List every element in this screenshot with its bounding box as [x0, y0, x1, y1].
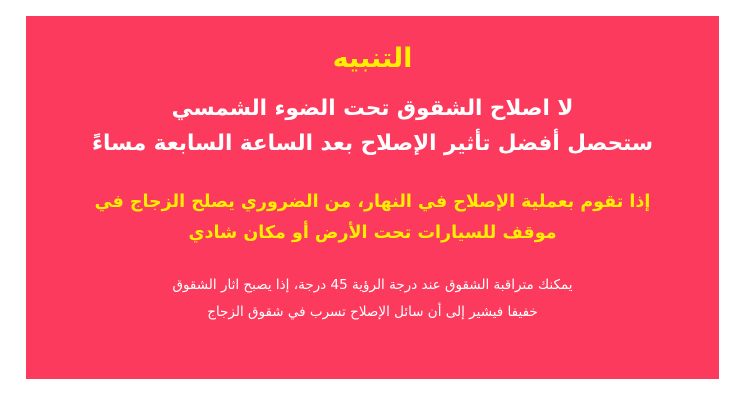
notice-title: التنبيه: [333, 44, 413, 74]
secondary-instruction-block: إذا تقوم بعملية الإصلاح في النهار، من ال…: [26, 187, 719, 249]
tertiary-detail-line-1: يمكنك متراقبة الشقوق عند درجة الرؤية 45 …: [26, 272, 719, 299]
primary-warning-line-1: لا اصلاح الشقوق تحت الضوء الشمسي: [26, 92, 719, 127]
page-canvas: التنبيه لا اصلاح الشقوق تحت الضوء الشمسي…: [0, 0, 750, 403]
tertiary-detail-block: يمكنك متراقبة الشقوق عند درجة الرؤية 45 …: [26, 272, 719, 326]
tertiary-detail-line-2: خفيفا فيشير إلى أن سائل الإصلاح تسرب في …: [26, 299, 719, 326]
notice-panel: التنبيه لا اصلاح الشقوق تحت الضوء الشمسي…: [26, 16, 719, 379]
secondary-instruction-line-1: إذا تقوم بعملية الإصلاح في النهار، من ال…: [26, 187, 719, 218]
secondary-instruction-line-2: موقف للسيارات تحت الأرض أو مكان شادي: [26, 218, 719, 249]
primary-warning-line-2: ستحصل أفضل تأثير الإصلاح بعد الساعة السا…: [26, 127, 719, 162]
primary-warning-block: لا اصلاح الشقوق تحت الضوء الشمسي ستحصل أ…: [26, 92, 719, 162]
